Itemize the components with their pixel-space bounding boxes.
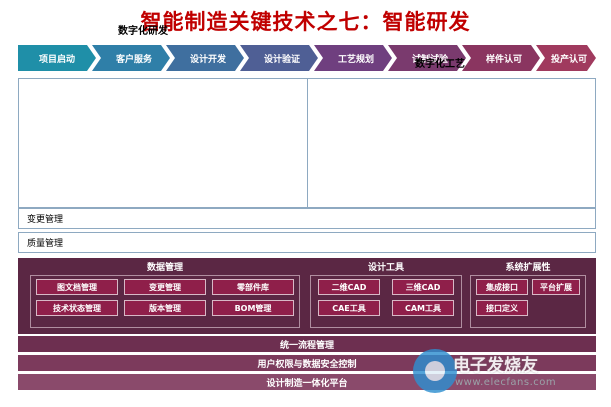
button-integration-interface[interactable]: 集成接口	[476, 279, 528, 295]
group-title: 设计工具	[310, 262, 462, 275]
bar-change-management: 变更管理	[18, 208, 596, 229]
button-change-management[interactable]: 变更管理	[124, 279, 206, 295]
button-3d-cad[interactable]: 三维CAD	[392, 279, 454, 295]
bar-label: 质量管理	[27, 236, 63, 249]
button-label: CAM工具	[405, 303, 441, 314]
process-step-label: 工艺规划	[338, 52, 374, 65]
button-2d-cad[interactable]: 二维CAD	[318, 279, 380, 295]
button-document-management[interactable]: 图文档管理	[36, 279, 118, 295]
button-cae-tool[interactable]: CAE工具	[318, 300, 380, 316]
button-platform-extension[interactable]: 平台扩展	[532, 279, 580, 295]
group-title: 系统扩展性	[470, 262, 586, 275]
button-label: 二维CAD	[332, 282, 367, 293]
process-step-label: 投产认可	[551, 52, 587, 65]
footer-bar-integrated-platform: 设计制造一体化平台	[18, 374, 596, 390]
process-step-2[interactable]: 客户服务	[92, 45, 170, 71]
process-step-label: 项目启动	[39, 52, 75, 65]
tools-band: 数据管理 图文档管理 变更管理 零部件库 技术状态管理 版本管理 BOM管理 设…	[18, 258, 596, 334]
process-step-3[interactable]: 设计开发	[166, 45, 244, 71]
button-bom-management[interactable]: BOM管理	[212, 300, 294, 316]
process-step-1[interactable]: 项目启动	[18, 45, 96, 71]
group-data-management: 数据管理 图文档管理 变更管理 零部件库 技术状态管理 版本管理 BOM管理	[30, 262, 300, 330]
button-label: 图文档管理	[57, 282, 97, 293]
footer-bar-process-management: 统一流程管理	[18, 336, 596, 352]
button-technical-state-management[interactable]: 技术状态管理	[36, 300, 118, 316]
button-cam-tool[interactable]: CAM工具	[392, 300, 454, 316]
button-label: 零部件库	[237, 282, 269, 293]
main-panel	[18, 78, 596, 208]
button-label: CAE工具	[332, 303, 366, 314]
process-step-4[interactable]: 设计验证	[240, 45, 318, 71]
process-step-7[interactable]: 样件认可	[462, 45, 540, 71]
button-parts-library[interactable]: 零部件库	[212, 279, 294, 295]
button-interface-definition[interactable]: 接口定义	[476, 300, 528, 316]
process-step-5[interactable]: 工艺规划	[314, 45, 392, 71]
bar-quality-management: 质量管理	[18, 232, 596, 253]
process-chevron-bar: 项目启动 客户服务 设计开发 设计验证 工艺规划 试制试验 样件认可 投产认可	[18, 45, 596, 71]
process-step-label: 客户服务	[116, 52, 152, 65]
button-label: 平台扩展	[540, 282, 572, 293]
bar-label: 变更管理	[27, 212, 63, 225]
group-title: 数据管理	[30, 262, 300, 275]
panel-label-left: 数字化研发	[118, 22, 168, 37]
footer-bar-label: 统一流程管理	[280, 338, 334, 351]
panel-divider	[307, 79, 308, 207]
button-label: 接口定义	[486, 303, 518, 314]
group-system-extensibility: 系统扩展性 集成接口 平台扩展 接口定义	[470, 262, 586, 330]
page-title: 智能制造关键技术之七：智能研发	[0, 6, 611, 36]
group-design-tools: 设计工具 二维CAD 三维CAD CAE工具 CAM工具	[310, 262, 462, 330]
button-label: 变更管理	[149, 282, 181, 293]
footer-bar-label: 设计制造一体化平台	[266, 376, 347, 389]
button-label: 版本管理	[149, 303, 181, 314]
process-step-label: 设计开发	[190, 52, 226, 65]
button-label: BOM管理	[235, 303, 272, 314]
button-label: 集成接口	[486, 282, 518, 293]
button-label: 三维CAD	[406, 282, 441, 293]
panel-label-right: 数字化工艺	[415, 55, 465, 70]
button-label: 技术状态管理	[53, 303, 101, 314]
button-version-management[interactable]: 版本管理	[124, 300, 206, 316]
footer-bar-permission-security: 用户权限与数据安全控制	[18, 355, 596, 371]
process-step-label: 设计验证	[264, 52, 300, 65]
diagram-canvas: 智能制造关键技术之七：智能研发 项目启动 客户服务 设计开发 设计验证 工艺规划…	[0, 0, 611, 407]
process-step-8[interactable]: 投产认可	[536, 45, 596, 71]
footer-bar-label: 用户权限与数据安全控制	[257, 357, 356, 370]
process-step-label: 样件认可	[486, 52, 522, 65]
